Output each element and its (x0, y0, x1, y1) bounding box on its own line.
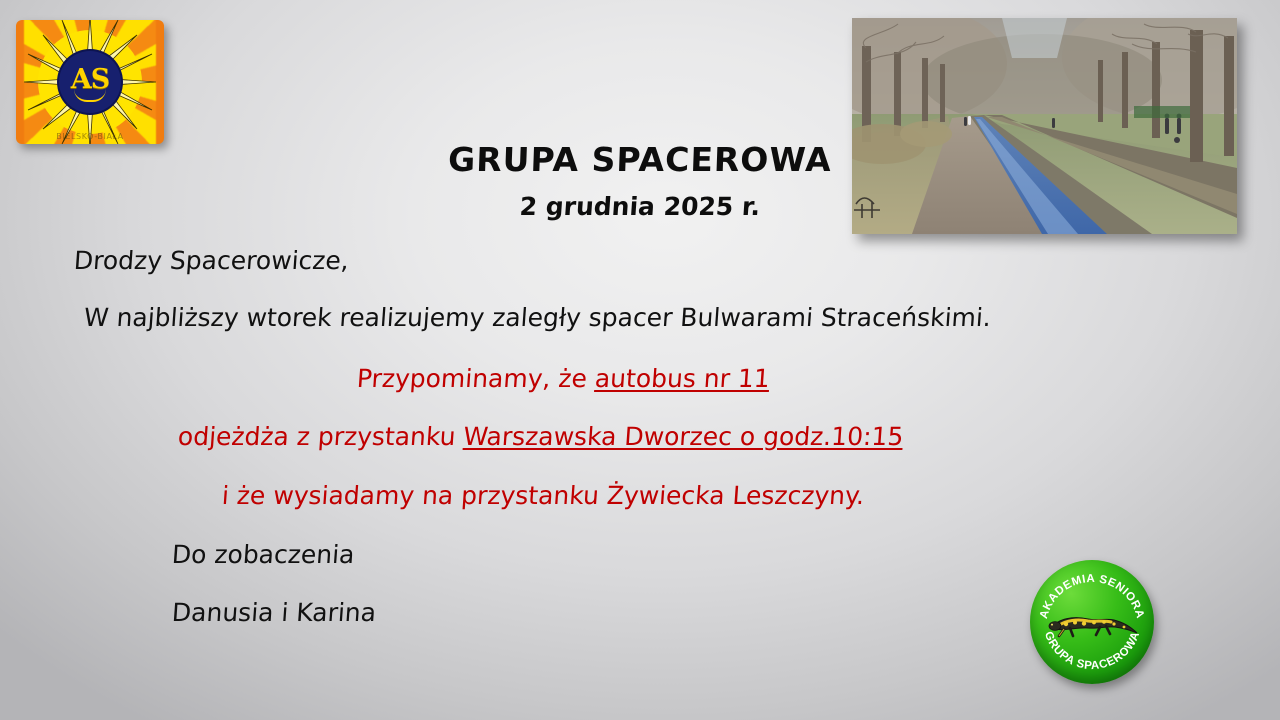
slide: AS BIELSKO-BIAŁA (0, 0, 1280, 720)
slide-title: GRUPA SPACEROWA (0, 140, 1280, 179)
salamander-icon (1044, 606, 1140, 640)
bus-number-emphasis: autobus nr 11 (594, 364, 771, 393)
departure-prefix: odjeżdża z przystanku (177, 422, 465, 451)
info-line: W najbliższy wtorek realizujemy zaległy … (83, 303, 992, 332)
slide-date: 2 grudnia 2025 r. (0, 192, 1280, 221)
signature-line: Danusia i Karina (171, 598, 377, 627)
as-monogram-disc: AS (59, 51, 121, 113)
departure-stop-emphasis: Warszawska Dworzec o godz.10:15 (462, 422, 904, 451)
bus-reminder-line: Przypominamy, że autobus nr 11 (356, 364, 771, 393)
greeting-line: Drodzy Spacerowicze, (73, 246, 350, 275)
arrival-line: i że wysiadamy na przystanku Żywiecka Le… (221, 481, 865, 510)
closing-line: Do zobaczenia (171, 540, 355, 569)
akademia-seniora-logo: AS BIELSKO-BIAŁA (16, 20, 164, 144)
departure-line: odjeżdża z przystanku Warszawska Dworzec… (177, 422, 904, 451)
grupa-spacerowa-badge: AKADEMIA SENIORA GRUPA SPACEROWA (1030, 560, 1154, 684)
bus-reminder-prefix: Przypominamy, że (356, 364, 596, 393)
